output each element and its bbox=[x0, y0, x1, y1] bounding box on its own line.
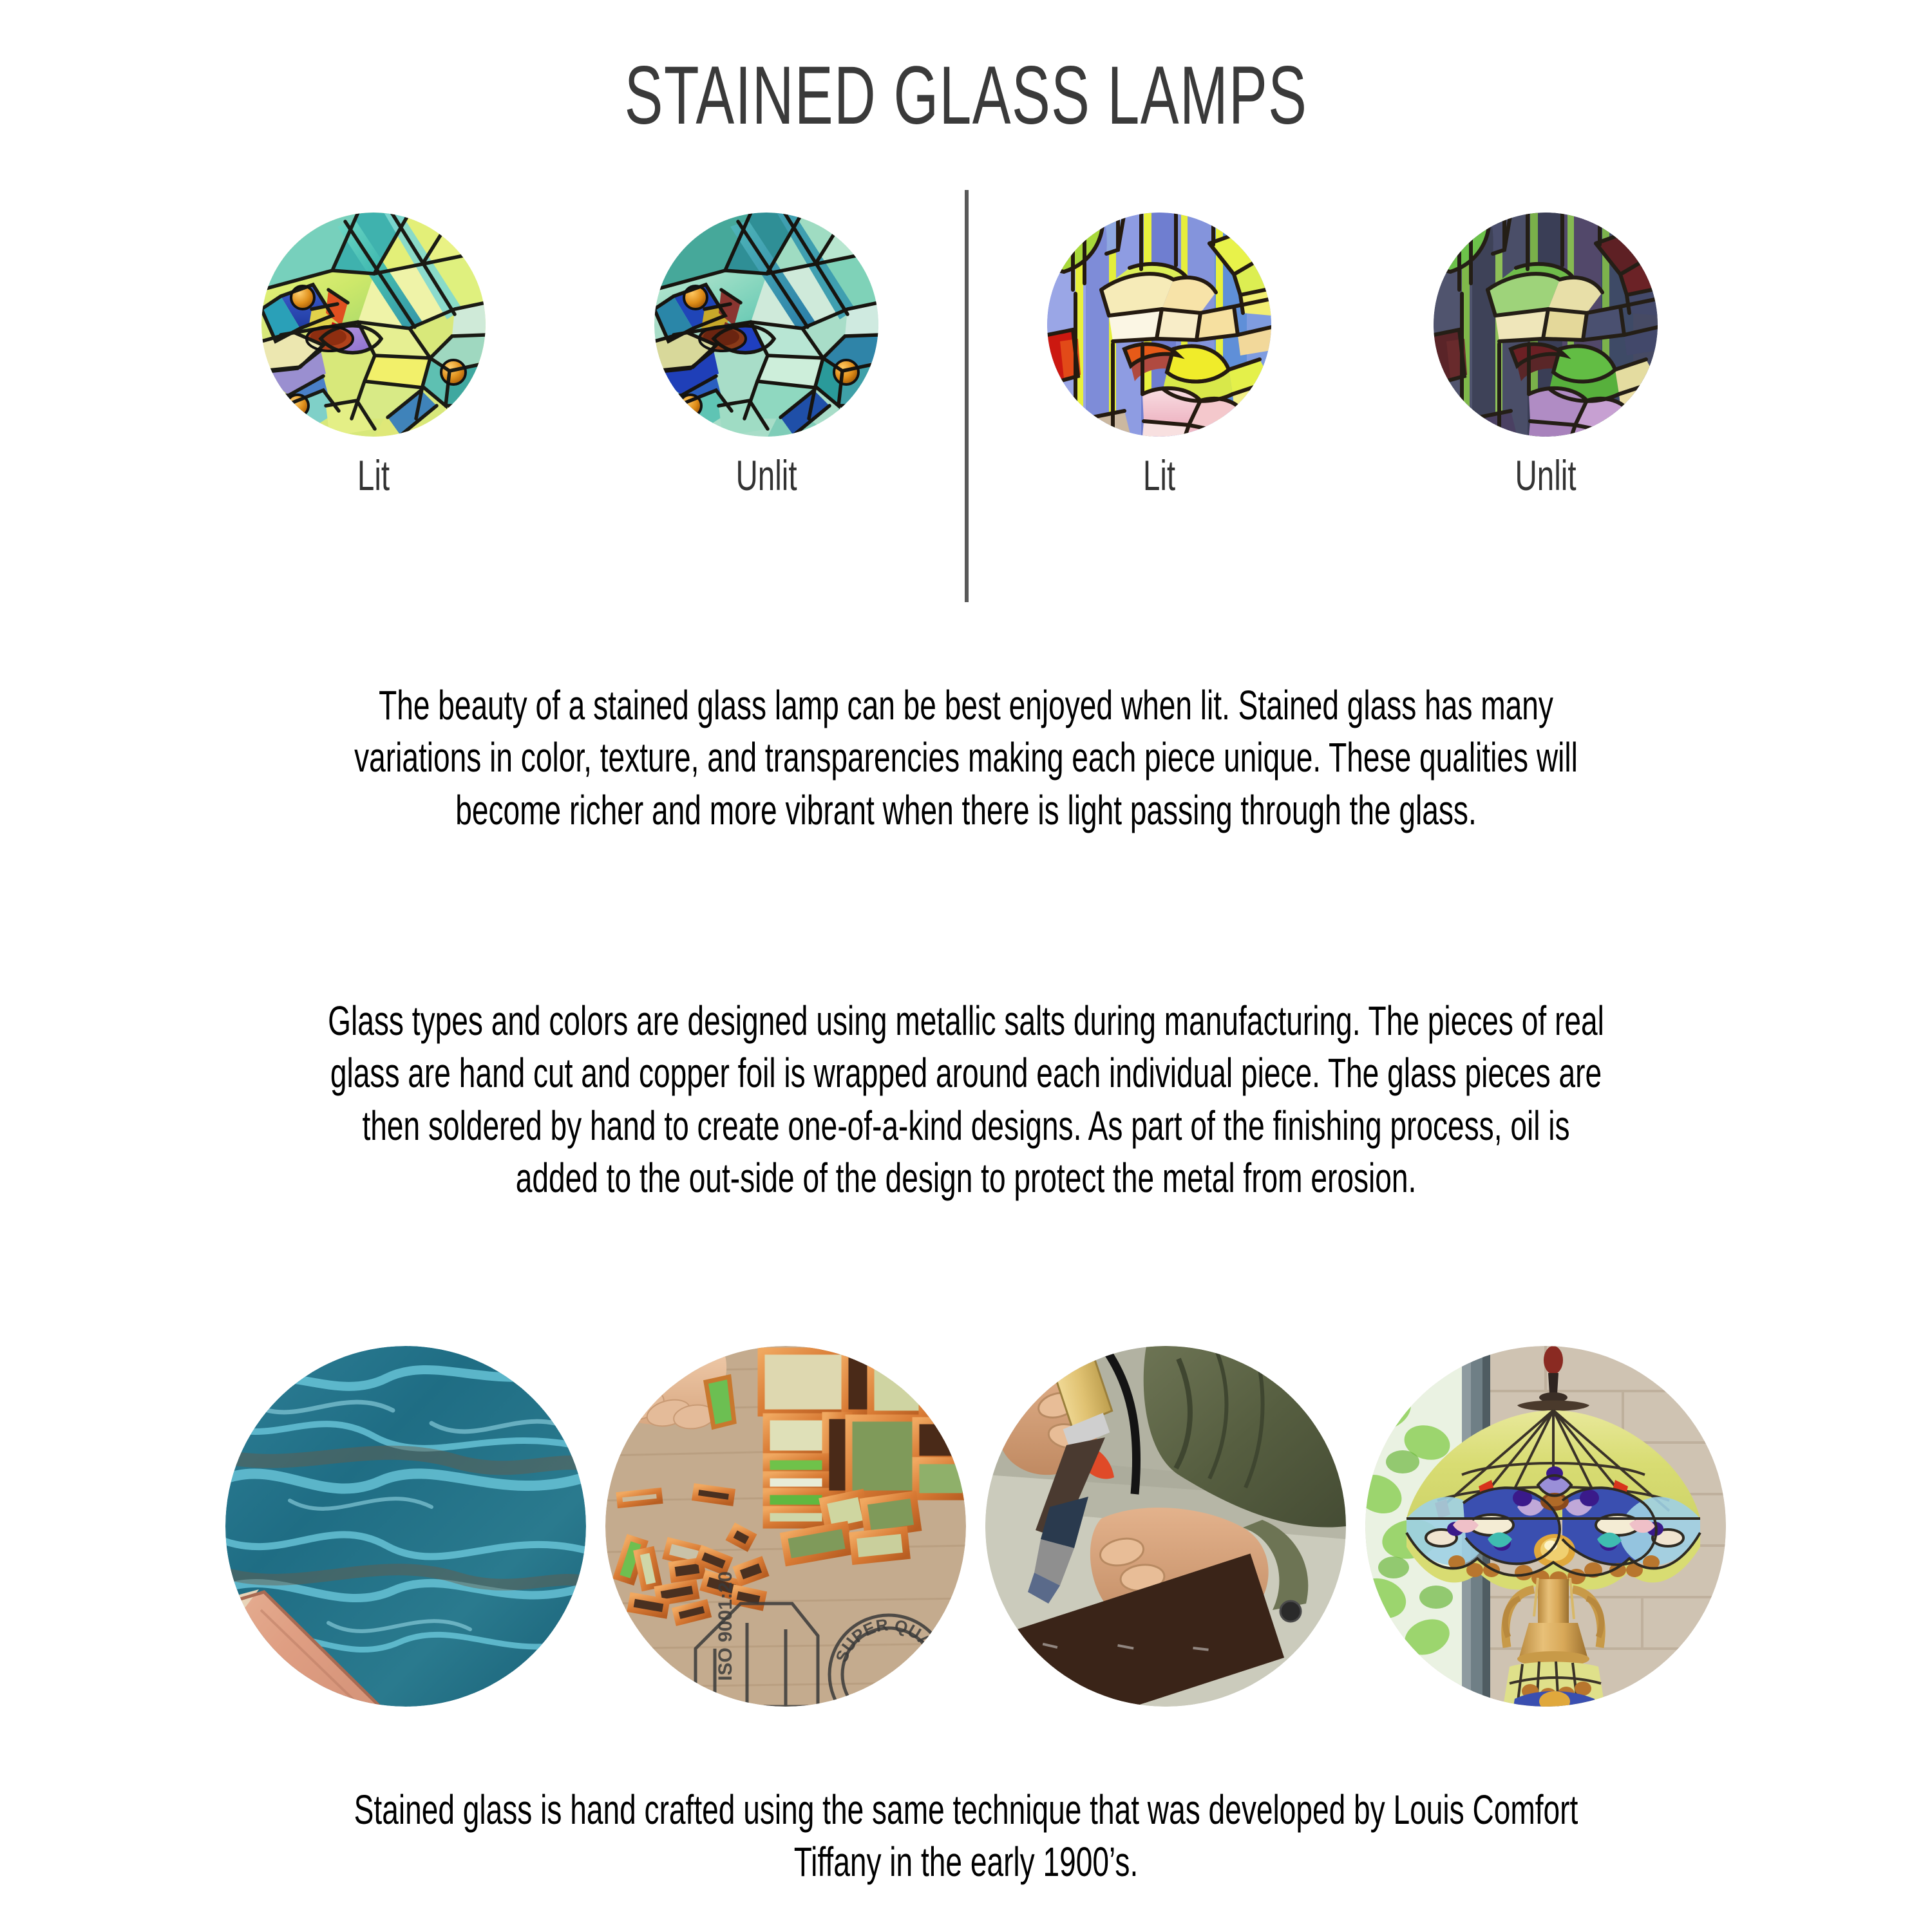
stained-glass-circle-lit-2 bbox=[1047, 213, 1271, 437]
stained-glass-circle-unlit-2 bbox=[1434, 213, 1658, 437]
paragraph-heritage: Stained glass is hand crafted using the … bbox=[326, 1784, 1605, 1889]
caption-unlit-2: Unlit bbox=[1465, 451, 1627, 500]
process-photo-row: ISO 9001:20 SUPER QUALITY bbox=[0, 1346, 1932, 1713]
stained-glass-circle-unlit-1 bbox=[654, 213, 878, 437]
iso-stamp-text: ISO 9001:20 bbox=[715, 1571, 736, 1681]
lit-unlit-comparison-row: Lit Unlit Lit Unlit bbox=[0, 213, 1932, 612]
hand-soldering-photo bbox=[985, 1346, 1346, 1707]
blue-glass-sheets-photo bbox=[225, 1346, 586, 1707]
caption-lit-1: Lit bbox=[293, 451, 455, 500]
finished-tiffany-lamp-photo bbox=[1365, 1346, 1726, 1707]
paragraph-intro: The beauty of a stained glass lamp can b… bbox=[326, 679, 1605, 837]
paragraph-process: Glass types and colors are designed usin… bbox=[326, 995, 1605, 1204]
vertical-divider bbox=[965, 190, 969, 602]
page-title: STAINED GLASS LAMPS bbox=[290, 55, 1642, 137]
caption-unlit-1: Unlit bbox=[686, 451, 848, 500]
copper-foiling-photo: ISO 9001:20 SUPER QUALITY bbox=[605, 1346, 966, 1707]
infographic-page: STAINED GLASS LAMPS bbox=[0, 0, 1932, 1932]
stained-glass-circle-lit-1 bbox=[261, 213, 486, 437]
caption-lit-2: Lit bbox=[1079, 451, 1240, 500]
